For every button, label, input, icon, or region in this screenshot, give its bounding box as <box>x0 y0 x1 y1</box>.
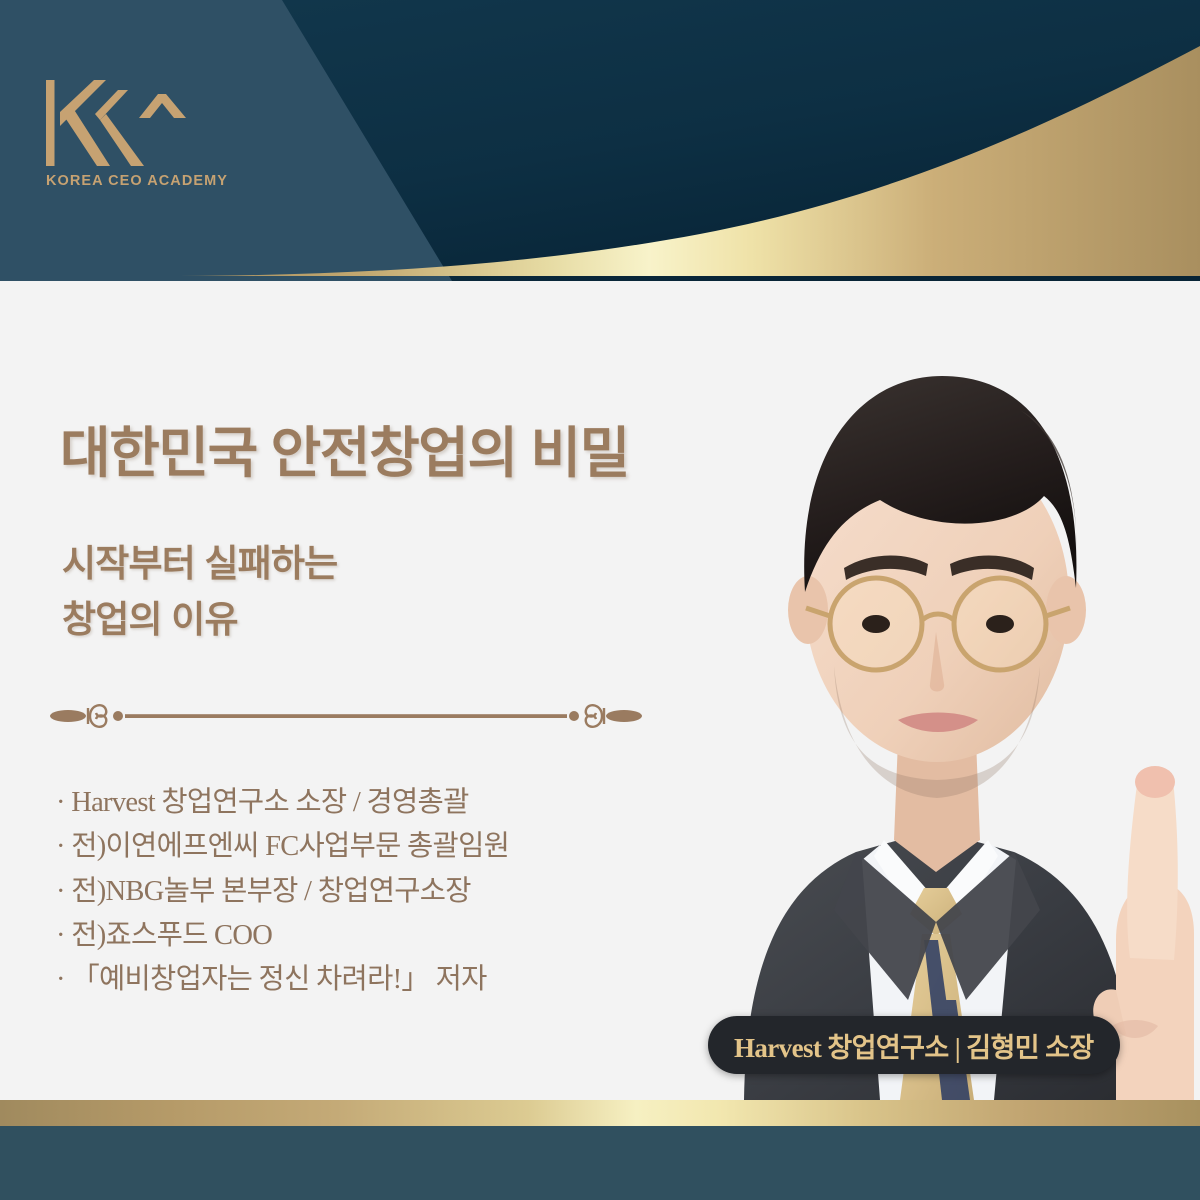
divider-line <box>125 714 567 718</box>
brand-wordmark: KOREA CEO ACADEMY <box>46 173 254 189</box>
list-item: · 「예비창업자는 정신 차려라!」 저자 <box>56 958 509 1002</box>
poster-body: 대한민국 안전창업의 비밀 시작부터 실패하는 창업의 이유 <box>0 281 1200 1100</box>
divider-right-leaf <box>606 710 642 722</box>
footer-gold-bar <box>0 1100 1200 1126</box>
speaker-portrait <box>684 300 1200 1100</box>
eye-left <box>862 615 890 633</box>
speaker-portrait-image <box>684 300 1200 1100</box>
page-title: 대한민국 안전창업의 비밀 <box>60 421 629 486</box>
list-item: · 전)이연에프엔씨 FC사업부문 총괄임원 <box>56 825 509 869</box>
ornamental-divider-icon <box>26 694 666 738</box>
page-subtitle: 시작부터 실패하는 창업의 이유 <box>62 536 337 648</box>
speaker-name-badge: Harvest 창업연구소 | 김형민 소장 <box>708 1016 1120 1074</box>
divider-left-leaf <box>50 710 86 722</box>
subtitle-line-2: 창업의 이유 <box>62 592 337 648</box>
list-item: · 전)NBG놀부 본부장 / 창업연구소장 <box>56 870 509 914</box>
brand-logo[interactable]: KOREA CEO ACADEMY <box>44 78 254 189</box>
ornamental-divider <box>26 694 666 738</box>
speaker-name-text: Harvest 창업연구소 | 김형민 소장 <box>734 1026 1094 1065</box>
subtitle-line-1: 시작부터 실패하는 <box>62 536 337 592</box>
eye-right <box>986 615 1014 633</box>
list-item: · 전)죠스푸드 COO <box>56 914 509 958</box>
promo-poster: KOREA CEO ACADEMY <box>0 0 1200 1200</box>
poster-header: KOREA CEO ACADEMY <box>0 0 1200 281</box>
kca-monogram-icon <box>44 78 204 168</box>
footer-navy-bar <box>0 1126 1200 1200</box>
list-item: · Harvest 창업연구소 소장 / 경영총괄 <box>56 781 509 825</box>
credentials-list: · Harvest 창업연구소 소장 / 경영총괄 · 전)이연에프엔씨 FC사… <box>56 781 509 1003</box>
